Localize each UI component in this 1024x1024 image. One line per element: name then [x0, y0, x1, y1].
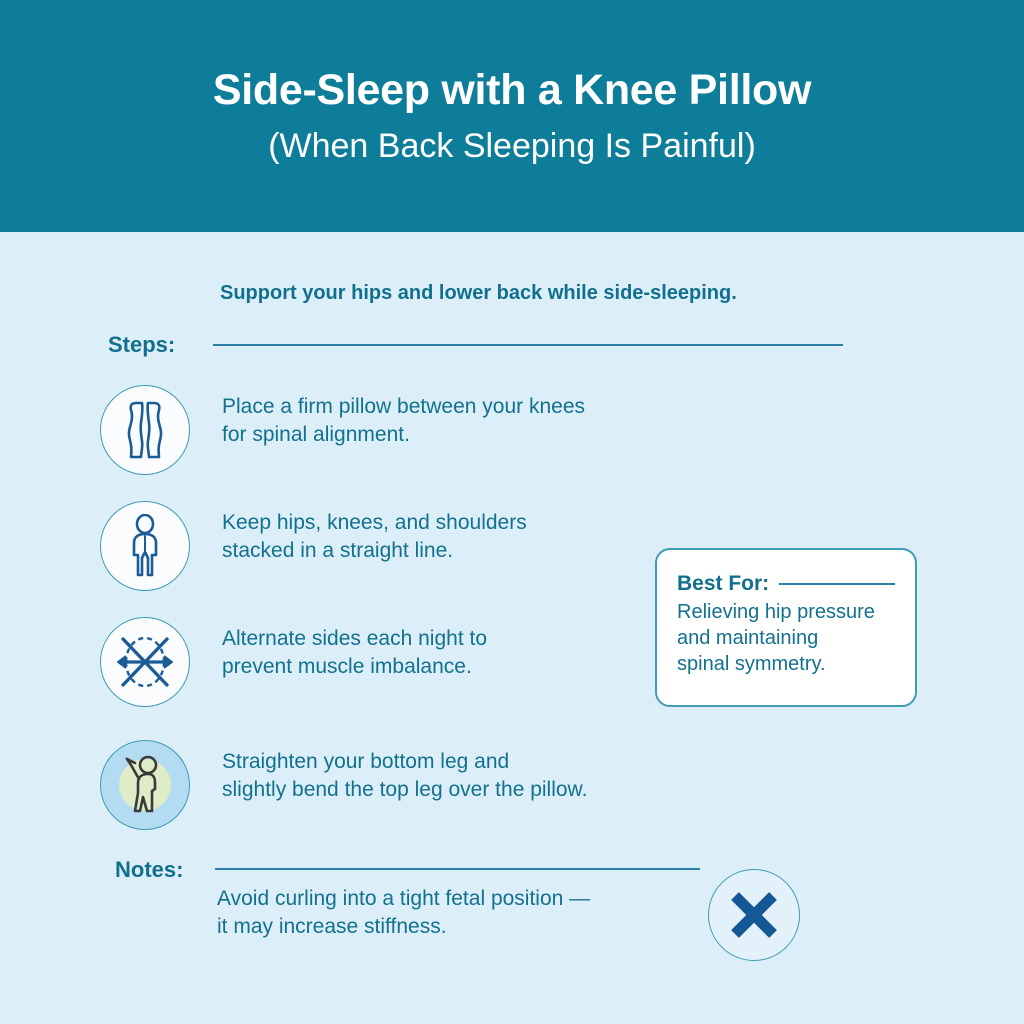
step-item[interactable]: Straighten your bottom leg and slightly … — [100, 740, 800, 832]
notes-divider — [215, 868, 700, 870]
intro-text: Support your hips and lower back while s… — [220, 282, 737, 305]
alternate-sides-icon-glyph — [112, 631, 178, 693]
notes-section-label: Notes: — [115, 857, 183, 883]
best-for-card: Best For: Relieving hip pressure and mai… — [655, 548, 917, 707]
step-text-line1: Keep hips, knees, and shoulders — [222, 509, 782, 537]
best-for-header: Best For: — [677, 572, 895, 596]
step-item[interactable]: Place a firm pillow between your knees f… — [100, 385, 800, 477]
page-title: Side-Sleep with a Knee Pillow — [213, 67, 811, 114]
step-text-line2: slightly bend the top leg over the pillo… — [222, 776, 782, 804]
x-mark-icon-glyph — [722, 883, 786, 947]
content-area: Support your hips and lower back while s… — [0, 232, 1024, 1024]
standing-person-icon-glyph — [120, 514, 170, 578]
alternate-sides-icon — [100, 617, 190, 707]
header-banner: Side-Sleep with a Knee Pillow (When Back… — [0, 0, 1024, 232]
best-for-line3: spinal symmetry. — [677, 651, 895, 677]
step-text-line2: for spinal alignment. — [222, 421, 782, 449]
page-subtitle: (When Back Sleeping Is Painful) — [268, 128, 756, 165]
best-for-line1: Relieving hip pressure — [677, 599, 895, 625]
two-legs-icon-glyph — [117, 399, 173, 461]
person-raised-arm-icon — [100, 740, 190, 830]
x-mark-icon — [708, 869, 800, 961]
step-text-line1: Place a firm pillow between your knees — [222, 393, 782, 421]
notes-text: Avoid curling into a tight fetal positio… — [217, 885, 737, 941]
notes-line1: Avoid curling into a tight fetal positio… — [217, 885, 737, 913]
best-for-divider — [779, 583, 895, 585]
step-text: Place a firm pillow between your knees f… — [222, 393, 782, 449]
notes-line2: it may increase stiffness. — [217, 913, 737, 941]
step-text-line1: Straighten your bottom leg and — [222, 748, 782, 776]
best-for-label: Best For: — [677, 572, 769, 596]
two-legs-icon — [100, 385, 190, 475]
step-text: Straighten your bottom leg and slightly … — [222, 748, 782, 804]
steps-divider — [213, 344, 843, 346]
standing-person-icon — [100, 501, 190, 591]
best-for-line2: and maintaining — [677, 625, 895, 651]
steps-section-label: Steps: — [108, 332, 175, 358]
best-for-text: Relieving hip pressure and maintaining s… — [677, 599, 895, 677]
person-raised-arm-icon-glyph — [105, 745, 185, 825]
